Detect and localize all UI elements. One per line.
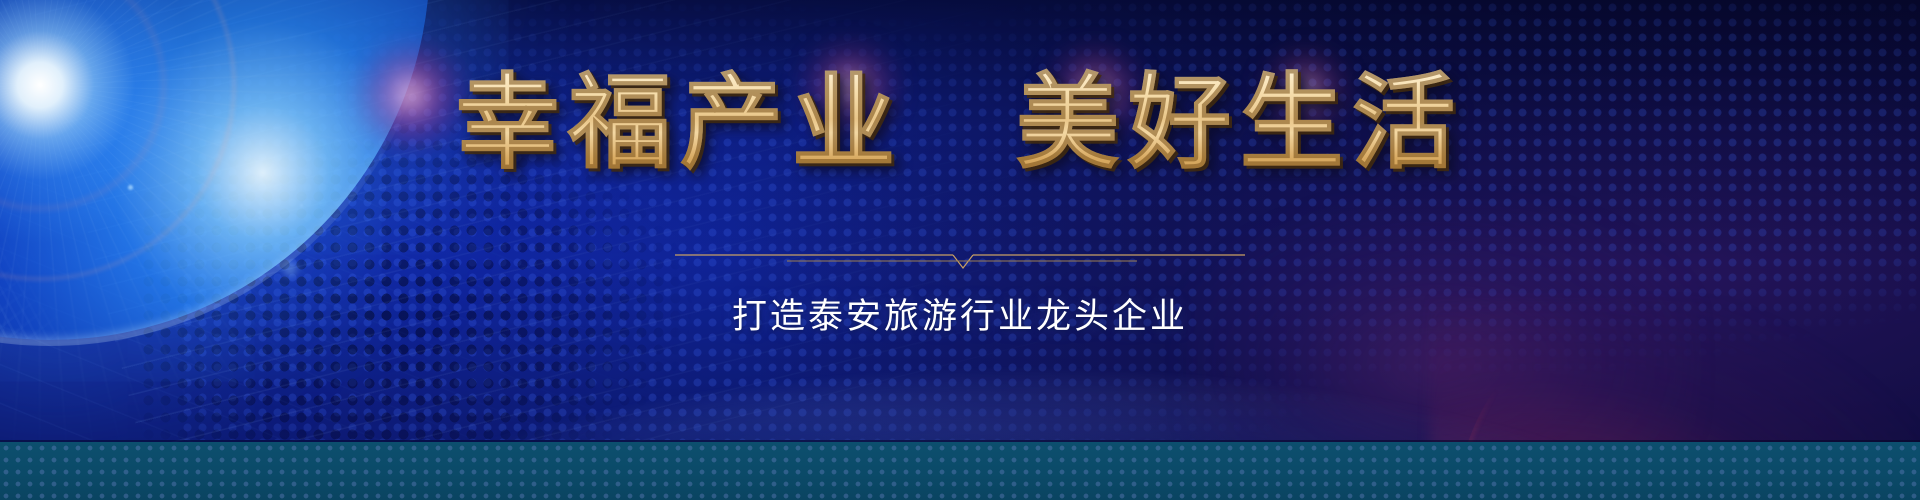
- divider-svg: [675, 246, 1245, 274]
- banner-title-container: 幸福产业 美好生活: [0, 66, 1920, 181]
- cityscape-starburst: [480, 352, 550, 422]
- page-subtitle: 打造泰安旅游行业龙头企业: [732, 288, 1188, 339]
- gold-divider-chevron: [675, 246, 1245, 274]
- hero-banner: 幸福产业 美好生活 打造泰安旅游行业龙头企业: [0, 0, 1920, 500]
- particle-dot: [300, 204, 303, 207]
- cityscape-starburst: [256, 374, 312, 430]
- particle-dot: [258, 210, 262, 214]
- bottom-band-dot-pattern: [0, 442, 1920, 500]
- particle-dot: [128, 185, 133, 190]
- banner-subtitle-container: 打造泰安旅游行业龙头企业: [0, 288, 1920, 339]
- bottom-band: [0, 442, 1920, 500]
- particle-dot: [283, 262, 297, 276]
- page-title: 幸福产业 美好生活: [456, 66, 1464, 181]
